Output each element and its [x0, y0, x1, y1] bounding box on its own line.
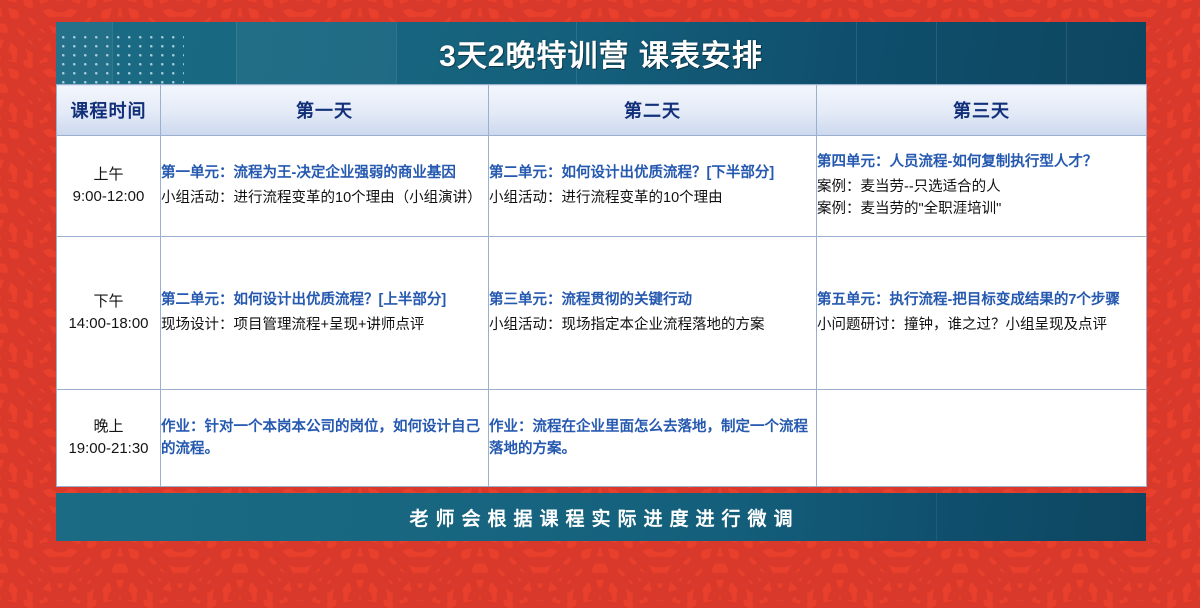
table-row: 上午 9:00-12:00 第一单元：流程为王-决定企业强弱的商业基因 小组活动… — [57, 136, 1147, 237]
time-label: 上午 — [57, 164, 160, 187]
time-cell-afternoon: 下午 14:00-18:00 — [57, 237, 161, 390]
page-title: 3天2晚特训营 课表安排 — [56, 31, 1146, 75]
footer-note: 老师会根据课程实际进度进行微调 — [402, 504, 799, 531]
time-label: 晚上 — [57, 416, 160, 439]
session-cell-day2-morning: 第二单元：如何设计出优质流程？[下半部分] 小组活动：进行流程变革的10个理由 — [489, 136, 817, 237]
unit-title: 第三单元：流程贯彻的关键行动 — [489, 290, 816, 311]
table-row: 晚上 19:00-21:30 作业：针对一个本岗本公司的岗位，如何设计自己的流程… — [57, 390, 1147, 487]
homework-text: 作业：流程在企业里面怎么去落地，制定一个流程落地的方案。 — [489, 416, 816, 461]
session-cell-day3-evening — [817, 390, 1147, 487]
title-bar: 3天2晚特训营 课表安排 — [56, 22, 1146, 84]
unit-title: 第二单元：如何设计出优质流程？[下半部分] — [489, 163, 816, 184]
unit-title: 第一单元：流程为王-决定企业强弱的商业基因 — [161, 163, 488, 184]
session-cell-day1-afternoon: 第二单元：如何设计出优质流程？[上半部分] 现场设计：项目管理流程+呈现+讲师点… — [161, 237, 489, 390]
unit-detail: 小组活动：进行流程变革的10个理由 — [489, 187, 816, 209]
session-cell-day1-morning: 第一单元：流程为王-决定企业强弱的商业基因 小组活动：进行流程变革的10个理由（… — [161, 136, 489, 237]
schedule-table: 课程时间 第一天 第二天 第三天 上午 9:00-12:00 第一单元：流程为王… — [56, 84, 1147, 487]
table-header-row: 课程时间 第一天 第二天 第三天 — [57, 85, 1147, 136]
session-cell-day2-evening: 作业：流程在企业里面怎么去落地，制定一个流程落地的方案。 — [489, 390, 817, 487]
slide-canvas: 3天2晚特训营 课表安排 课程时间 第一天 第二天 第三天 上午 — [0, 0, 1200, 608]
time-range: 14:00-18:00 — [57, 313, 160, 336]
unit-detail: 小组活动：进行流程变革的10个理由（小组演讲） — [161, 187, 488, 209]
unit-title: 第四单元：人员流程-如何复制执行型人才？ — [817, 152, 1146, 173]
time-label: 下午 — [57, 291, 160, 314]
unit-title: 第二单元：如何设计出优质流程？[上半部分] — [161, 290, 488, 311]
unit-detail: 小问题研讨：撞钟，谁之过？小组呈现及点评 — [817, 314, 1146, 336]
column-header-day1: 第一天 — [161, 85, 489, 136]
time-range: 19:00-21:30 — [57, 438, 160, 461]
table-row: 下午 14:00-18:00 第二单元：如何设计出优质流程？[上半部分] 现场设… — [57, 237, 1147, 390]
unit-detail: 案例：麦当劳--只选适合的人 — [817, 176, 1146, 198]
session-cell-day1-evening: 作业：针对一个本岗本公司的岗位，如何设计自己的流程。 — [161, 390, 489, 487]
session-cell-day3-afternoon: 第五单元：执行流程-把目标变成结果的7个步骤 小问题研讨：撞钟，谁之过？小组呈现… — [817, 237, 1147, 390]
session-cell-day3-morning: 第四单元：人员流程-如何复制执行型人才？ 案例：麦当劳--只选适合的人 案例：麦… — [817, 136, 1147, 237]
column-header-time: 课程时间 — [57, 85, 161, 136]
unit-detail: 小组活动：现场指定本企业流程落地的方案 — [489, 314, 816, 336]
time-range: 9:00-12:00 — [57, 186, 160, 209]
column-header-day2: 第二天 — [489, 85, 817, 136]
session-cell-day2-afternoon: 第三单元：流程贯彻的关键行动 小组活动：现场指定本企业流程落地的方案 — [489, 237, 817, 390]
footer-stripe-1 — [936, 493, 937, 541]
unit-detail: 现场设计：项目管理流程+呈现+讲师点评 — [161, 314, 488, 336]
time-cell-evening: 晚上 19:00-21:30 — [57, 390, 161, 487]
homework-text: 作业：针对一个本岗本公司的岗位，如何设计自己的流程。 — [161, 416, 488, 461]
schedule-card: 3天2晚特训营 课表安排 课程时间 第一天 第二天 第三天 上午 — [56, 22, 1146, 565]
column-header-day3: 第三天 — [817, 85, 1147, 136]
time-cell-morning: 上午 9:00-12:00 — [57, 136, 161, 237]
footer-bar: 老师会根据课程实际进度进行微调 — [56, 493, 1146, 541]
unit-title: 第五单元：执行流程-把目标变成结果的7个步骤 — [817, 290, 1146, 311]
unit-detail: 案例：麦当劳的"全职涯培训" — [817, 198, 1146, 220]
